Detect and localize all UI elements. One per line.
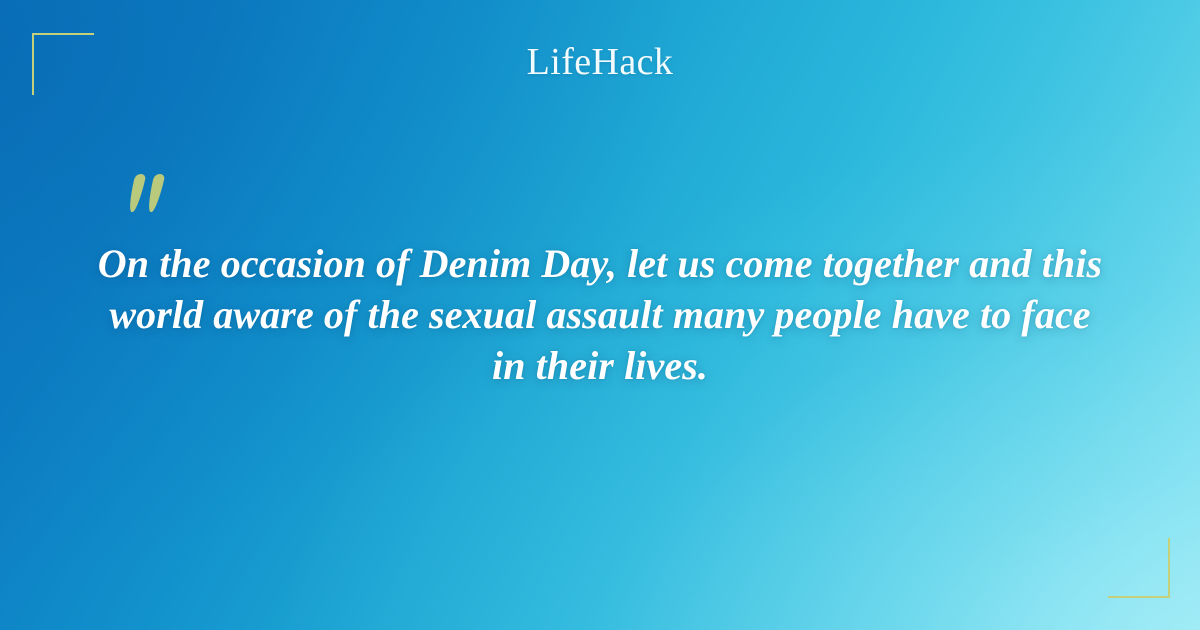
quote-card: LifeHack On the occasion of Denim Day, l…: [0, 0, 1200, 630]
bracket-bottom-right-vertical-line: [1168, 538, 1170, 598]
quotation-mark-icon: [131, 174, 179, 220]
quotation-mark-stroke-right: [146, 174, 166, 212]
bracket-bottom-right-horizontal-line: [1108, 596, 1170, 598]
lifehack-logo: LifeHack: [0, 38, 1200, 86]
card-content-layer: LifeHack On the occasion of Denim Day, l…: [0, 0, 1200, 630]
quote-line: in their lives.: [92, 340, 1108, 391]
bracket-top-left-horizontal-line: [32, 33, 94, 35]
quote-line: world aware of the sexual assault many p…: [92, 289, 1108, 340]
quote-line: On the occasion of Denim Day, let us com…: [92, 238, 1108, 289]
corner-bracket-bottom-right-icon: [1108, 538, 1170, 598]
quotation-mark-stroke-left: [127, 174, 147, 212]
quote-text-block: On the occasion of Denim Day, let us com…: [92, 238, 1108, 391]
